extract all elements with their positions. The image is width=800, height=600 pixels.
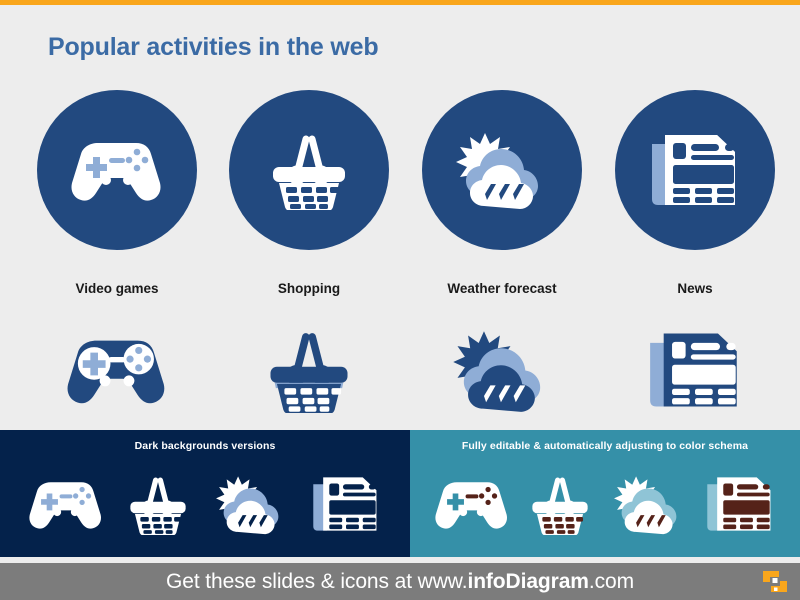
newspaper-icon xyxy=(647,330,743,410)
teal-panel-icon-strip xyxy=(410,464,800,544)
plain-cell-news[interactable] xyxy=(600,320,790,420)
footer-text-before: Get these slides & icons at www. xyxy=(166,570,467,594)
sun-cloud-rain-icon xyxy=(449,328,555,413)
footer-bar: Get these slides & icons at www.infoDiag… xyxy=(0,563,800,600)
sun-cloud-rain-icon xyxy=(452,130,552,210)
page-title: Popular activities in the web xyxy=(48,33,378,62)
color-schema-panel: Fully editable & automatically adjusting… xyxy=(410,430,800,557)
circle-cell-shopping[interactable] xyxy=(214,90,404,275)
slide-canvas: Popular activities in the web xyxy=(0,0,800,600)
newspaper-icon[interactable] xyxy=(311,475,381,533)
shopping-basket-icon xyxy=(266,130,352,210)
activity-label-news: News xyxy=(600,281,790,296)
plain-cell-weather-forecast[interactable] xyxy=(407,320,597,420)
circle-badge-weather-forecast[interactable] xyxy=(422,90,582,250)
gamepad-icon[interactable] xyxy=(29,477,103,531)
gamepad-icon[interactable] xyxy=(435,477,509,531)
circle-cell-video-games[interactable] xyxy=(22,90,212,275)
circle-cell-weather-forecast[interactable] xyxy=(407,90,597,275)
dark-panel-icon-strip xyxy=(0,464,410,544)
plain-icon-row xyxy=(0,320,800,420)
dark-panel-caption: Dark backgrounds versions xyxy=(0,440,410,452)
plain-cell-video-games[interactable] xyxy=(22,320,212,420)
circle-icon-row xyxy=(0,90,800,275)
footer-promo-text[interactable]: Get these slides & icons at www.infoDiag… xyxy=(0,563,800,600)
shopping-basket-icon[interactable] xyxy=(527,473,593,535)
shopping-basket-icon xyxy=(263,327,355,413)
newspaper-icon xyxy=(649,132,741,208)
sun-cloud-rain-icon[interactable] xyxy=(611,474,687,535)
circle-cell-news[interactable] xyxy=(600,90,790,275)
activity-label-weather-forecast: Weather forecast xyxy=(407,281,597,296)
newspaper-icon[interactable] xyxy=(705,475,775,533)
teal-panel-caption: Fully editable & automatically adjusting… xyxy=(410,440,800,452)
activity-label-row: Video games Shopping Weather forecast Ne… xyxy=(0,281,800,301)
plain-cell-shopping[interactable] xyxy=(214,320,404,420)
top-accent-rule xyxy=(0,0,800,5)
footer-text-after: .com xyxy=(589,570,634,594)
circle-badge-shopping[interactable] xyxy=(229,90,389,250)
variant-panels: Dark backgrounds versions xyxy=(0,430,800,557)
activity-label-video-games: Video games xyxy=(22,281,212,296)
gamepad-icon xyxy=(67,334,167,406)
shopping-basket-icon[interactable] xyxy=(125,473,191,535)
infodiagram-logo[interactable] xyxy=(762,569,788,594)
activity-label-shopping: Shopping xyxy=(214,281,404,296)
sun-cloud-rain-icon[interactable] xyxy=(213,474,289,535)
footer-brand-name: infoDiagram xyxy=(467,570,588,594)
circle-badge-news[interactable] xyxy=(615,90,775,250)
gamepad-icon xyxy=(71,137,163,203)
circle-badge-video-games[interactable] xyxy=(37,90,197,250)
dark-background-panel: Dark backgrounds versions xyxy=(0,430,410,557)
